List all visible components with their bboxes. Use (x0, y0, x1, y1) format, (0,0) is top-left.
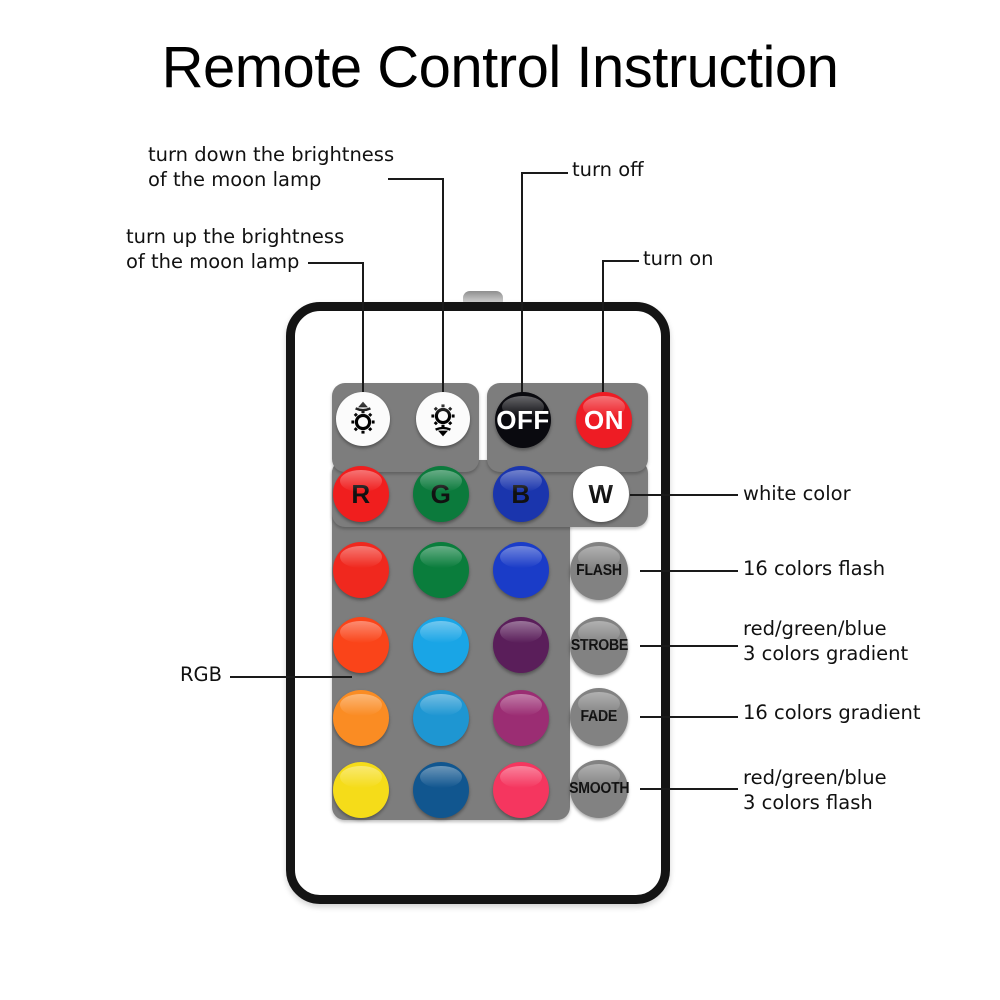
leader-turn-on-v (602, 260, 604, 410)
callout-turn-down-brightness: turn down the brightness of the moon lam… (148, 142, 418, 192)
leader-white-color (630, 494, 738, 496)
callout-fade: 16 colors gradient (743, 700, 921, 725)
color-swatch-button[interactable] (493, 762, 549, 818)
leader-turn-off-h (522, 172, 568, 174)
leader-turn-off-v (521, 172, 523, 410)
callout-smooth: red/green/blue 3 colors flash (743, 765, 887, 815)
callout-strobe: red/green/blue 3 colors gradient (743, 616, 908, 666)
white-button[interactable]: W (573, 466, 629, 522)
blue-button-label: B (511, 479, 530, 510)
strobe-button-label: STROBE (570, 637, 627, 655)
leader-turn-up-v (362, 262, 364, 410)
callout-rgb: RGB (180, 662, 222, 687)
color-swatch-button[interactable] (413, 762, 469, 818)
blue-button[interactable]: B (493, 466, 549, 522)
leader-turn-up-h (308, 262, 364, 264)
color-swatch-button[interactable] (333, 542, 389, 598)
red-button[interactable]: R (333, 466, 389, 522)
flash-button[interactable]: FLASH (570, 542, 628, 600)
color-swatch-button[interactable] (413, 542, 469, 598)
brightness-up-button[interactable] (336, 392, 390, 446)
sun-up-icon (343, 399, 383, 439)
brightness-down-button[interactable] (416, 392, 470, 446)
on-button-label: ON (584, 405, 624, 436)
flash-button-label: FLASH (576, 562, 622, 580)
diagram-canvas: Remote Control Instruction turn down the… (0, 0, 1000, 1000)
leader-smooth (640, 788, 738, 790)
leader-rgb (230, 676, 352, 678)
sun-down-icon (423, 399, 463, 439)
smooth-button-label: SMOOTH (569, 780, 629, 798)
leader-turn-on-h (603, 260, 639, 262)
callout-white-color: white color (743, 481, 851, 506)
callout-turn-up-brightness: turn up the brightness of the moon lamp (126, 224, 406, 274)
color-swatch-button[interactable] (493, 542, 549, 598)
strobe-button[interactable]: STROBE (570, 617, 628, 675)
green-button[interactable]: G (413, 466, 469, 522)
leader-turn-down-h (388, 178, 444, 180)
color-swatch-button[interactable] (493, 690, 549, 746)
leader-strobe (640, 645, 738, 647)
on-button[interactable]: ON (576, 392, 632, 448)
red-button-label: R (351, 479, 370, 510)
fade-button[interactable]: FADE (570, 688, 628, 746)
color-swatch-button[interactable] (413, 617, 469, 673)
fade-button-label: FADE (581, 708, 618, 726)
page-title: Remote Control Instruction (0, 34, 1000, 101)
green-button-label: G (431, 479, 452, 510)
color-swatch-button[interactable] (413, 690, 469, 746)
leader-fade (640, 716, 738, 718)
callout-turn-off: turn off (572, 157, 644, 182)
smooth-button[interactable]: SMOOTH (570, 760, 628, 818)
off-button[interactable]: OFF (495, 392, 551, 448)
color-swatch-button[interactable] (333, 690, 389, 746)
white-button-label: W (588, 479, 613, 510)
callout-flash: 16 colors flash (743, 556, 885, 581)
off-button-label: OFF (496, 405, 550, 436)
leader-flash (640, 570, 738, 572)
callout-turn-on: turn on (643, 246, 714, 271)
leader-turn-down-v (442, 178, 444, 410)
color-swatch-button[interactable] (333, 762, 389, 818)
color-swatch-button[interactable] (493, 617, 549, 673)
color-swatch-button[interactable] (333, 617, 389, 673)
